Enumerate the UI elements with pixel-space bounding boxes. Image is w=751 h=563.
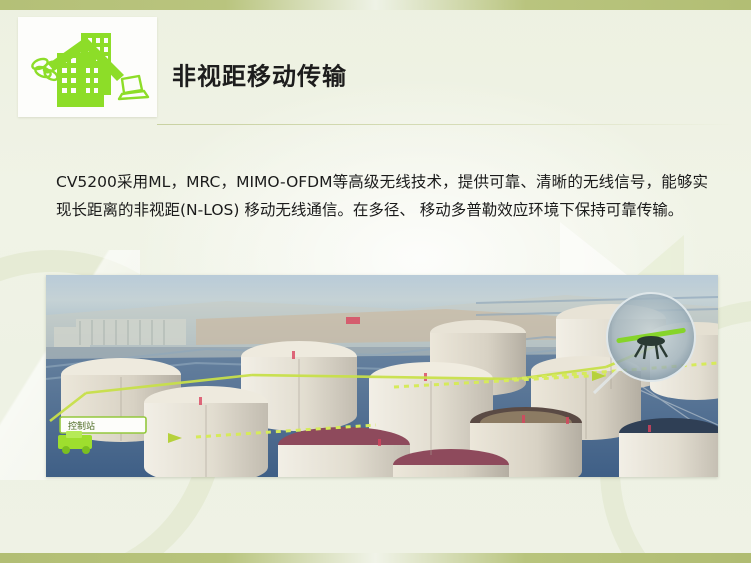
bottom-accent-bar: [0, 553, 751, 563]
top-accent-bar: [0, 0, 751, 10]
logo-panel: [18, 17, 157, 117]
body-paragraph: CV5200采用ML，MRC，MIMO-OFDM等高级无线技术，提供可靠、清晰的…: [56, 168, 708, 224]
green-buildings-house-icon: [18, 17, 157, 117]
slide-canvas: 非视距移动传输 CV5200采用ML，MRC，MIMO-OFDM等高级无线技术，…: [0, 0, 751, 563]
photo-artwork: 控制站: [46, 275, 718, 477]
aerial-oil-tank-farm-photo: 控制站: [46, 275, 718, 477]
page-title: 非视距移动传输: [172, 57, 347, 92]
svg-text:控制站: 控制站: [68, 420, 95, 432]
title-underline-rule: [157, 124, 737, 125]
slide-header: 非视距移动传输: [0, 10, 751, 120]
